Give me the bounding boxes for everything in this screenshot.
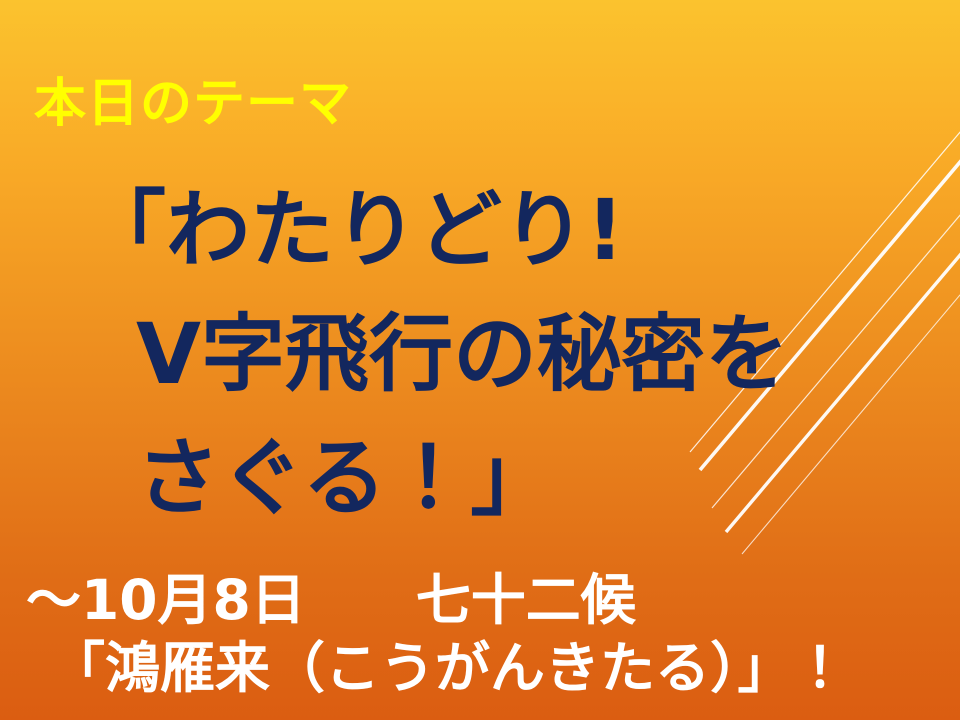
title-line-1: 「わたりどり! <box>0 168 960 292</box>
slide-canvas: 本日のテーマ 「わたりどり! V字飛行の秘密を さぐる！」 〜10月8日 七十二… <box>0 0 960 720</box>
subtitle-caption: 〜10月8日 七十二候 「鴻雁来（こうがんきたる）」！ <box>0 566 960 702</box>
page-heading: 本日のテーマ <box>34 78 352 130</box>
main-title: 「わたりどり! V字飛行の秘密を さぐる！」 <box>0 168 960 540</box>
caption-line-2: 「鴻雁来（こうがんきたる）」！ <box>0 634 960 702</box>
title-line-3: さぐる！」 <box>0 416 960 540</box>
caption-line-1: 〜10月8日 七十二候 <box>0 566 960 634</box>
title-line-2: V字飛行の秘密を <box>0 292 960 416</box>
